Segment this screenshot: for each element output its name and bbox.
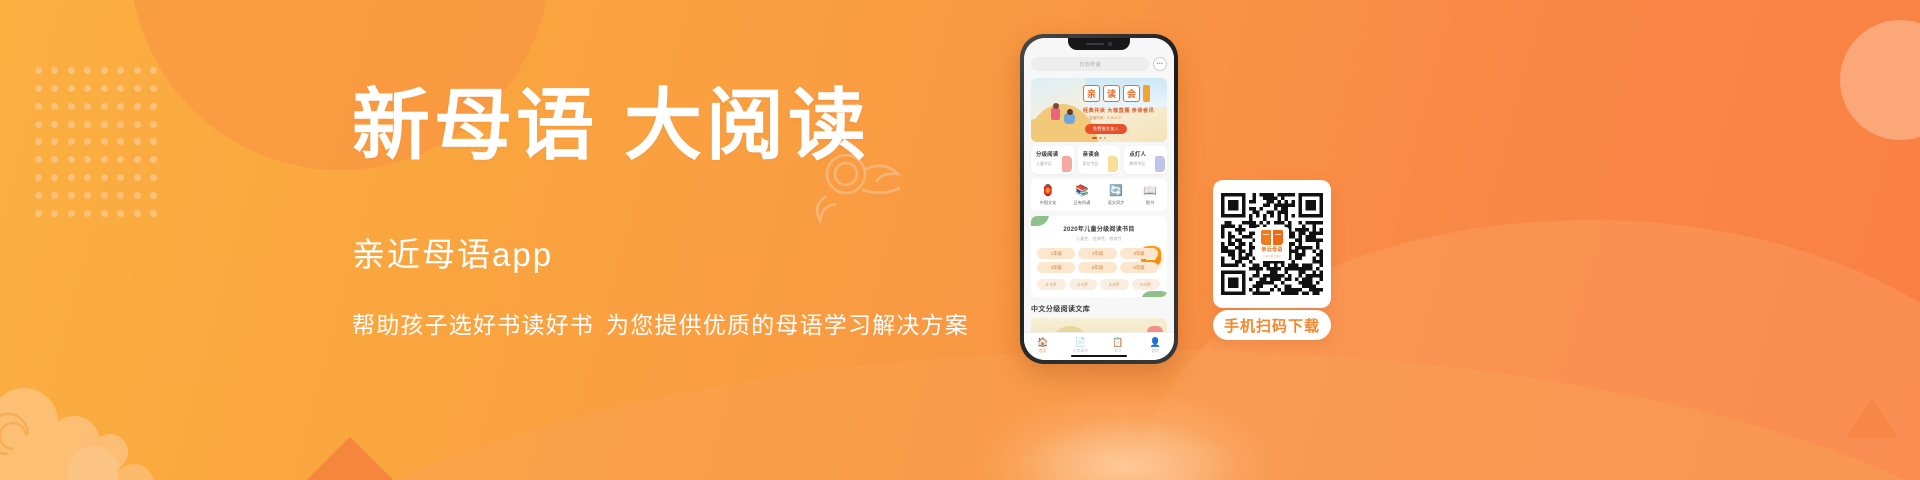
grade-chip-row: 1年级 2年级 3年级 4年级 5年级 6年级 (1037, 248, 1161, 273)
app-name-subtitle: 亲近母语app (352, 228, 1012, 276)
grid-dot (134, 210, 141, 217)
entry-card-lamplighter[interactable]: 点灯人 教师专区 (1124, 146, 1167, 174)
tab-label: 首页 (1024, 349, 1062, 354)
grid-dot (68, 174, 75, 181)
phone-mockup: 日有所诵 ••• 亲 读 会 (1020, 34, 1178, 364)
hero-child-illustration-2 (1064, 113, 1075, 124)
scan-download-button[interactable]: 手机扫码下载 (1213, 310, 1331, 340)
grid-dot (68, 103, 75, 110)
grid-dot (150, 85, 157, 92)
book-icon (1155, 156, 1165, 172)
grid-dot (134, 121, 141, 128)
decor-phone-glow (975, 390, 1275, 480)
library-section-title: 中文分级阅读文库 (1031, 304, 1167, 314)
grid-dot (150, 67, 157, 74)
sync-icon: 🔄 (1099, 185, 1133, 197)
grid-dot (150, 138, 157, 145)
qr-center-logo: 亲近母语 让孩子爱上阅读 (1255, 227, 1289, 261)
grid-dot (51, 156, 58, 163)
leaf-decor-icon (1141, 291, 1167, 297)
grid-dot (51, 85, 58, 92)
entry-card-reading-club[interactable]: 亲读会 家长专区 (1078, 146, 1121, 174)
grid-dot (51, 121, 58, 128)
copy-block: 新母语大阅读 亲近母语app 帮助孩子选好书读好书为您提供优质的母语学习解决方案 (352, 86, 1012, 340)
age-chip[interactable]: 4-5岁 (1100, 279, 1129, 290)
nav-label: 语文同步 (1099, 200, 1133, 206)
decor-diamond (305, 437, 396, 480)
nav-item-chinese-culture[interactable]: 🏮 中国文化 (1031, 185, 1065, 206)
grid-dot (117, 156, 124, 163)
hero-seal-decor (1143, 85, 1150, 102)
grid-dot (84, 85, 91, 92)
grid-dot (35, 138, 42, 145)
grade-chip[interactable]: 5年级 (1078, 262, 1116, 273)
booklist-title: 2020年儿童分级阅读书目 (1037, 224, 1161, 233)
message-icon: ••• (1157, 62, 1164, 67)
phone-notch (1068, 38, 1130, 50)
entry-cards: 分级阅读 儿童专区 亲读会 家长专区 点灯人 教师专区 (1031, 146, 1167, 174)
clipboard-icon: 📋 (1099, 337, 1137, 347)
grid-dot (68, 138, 75, 145)
grid-dot (68, 67, 75, 74)
carousel-dot[interactable] (1099, 137, 1102, 140)
grid-dot (51, 210, 58, 217)
grid-dot (117, 192, 124, 199)
grid-dot (68, 210, 75, 217)
grid-dot (35, 85, 42, 92)
tab-reading[interactable]: 📄 小步读书 (1062, 337, 1100, 354)
grid-dot (84, 67, 91, 74)
grade-chip[interactable]: 1年级 (1037, 248, 1075, 259)
grid-dot (134, 138, 141, 145)
decor-band-bottom (200, 350, 1920, 480)
document-icon: 📄 (1062, 337, 1100, 347)
grid-dot (51, 174, 58, 181)
grid-dot (35, 210, 42, 217)
search-row: 日有所诵 ••• (1024, 54, 1174, 76)
tab-label: 学习 (1099, 349, 1137, 354)
decor-phone-glow-inner (1010, 418, 1240, 480)
grid-dot (51, 192, 58, 199)
grid-dot (134, 85, 141, 92)
phone-inner-frame: 日有所诵 ••• 亲 读 会 (1024, 38, 1174, 360)
nav-item-language-sync[interactable]: 🔄 语文同步 (1099, 185, 1133, 206)
grid-dot (117, 138, 124, 145)
grid-dot (68, 156, 75, 163)
hero-title-char-3: 会 (1123, 85, 1140, 102)
grid-dot (134, 156, 141, 163)
grid-dot (117, 67, 124, 74)
grid-dot (134, 192, 141, 199)
tagline-part-1: 帮助孩子选好书读好书 (352, 312, 594, 338)
tagline-part-2: 为您提供优质的母语学习解决方案 (606, 312, 969, 338)
headline-part-2: 大阅读 (624, 80, 870, 171)
book-left-page (1261, 230, 1271, 245)
grid-dot (117, 103, 124, 110)
camera-icon (1108, 42, 1112, 46)
grid-dot (84, 138, 91, 145)
grid-dot (101, 85, 108, 92)
grid-dot (101, 67, 108, 74)
grid-dot (51, 67, 58, 74)
nav-label: 图书 (1133, 200, 1167, 206)
book-logo-icon (1261, 230, 1283, 245)
tab-label: 小步读书 (1062, 349, 1100, 354)
promo-banner: 新母语大阅读 亲近母语app 帮助孩子选好书读好书为您提供优质的母语学习解决方案… (0, 0, 1920, 480)
hero-title: 亲 读 会 (1083, 85, 1150, 102)
carousel-dot-active[interactable] (1092, 137, 1097, 140)
hero-child-illustration-1 (1051, 107, 1060, 120)
qr-code-card: 亲近母语 让孩子爱上阅读 (1213, 180, 1331, 308)
grid-dot (150, 121, 157, 128)
headline-part-1: 新母语 (352, 80, 598, 171)
grid-dot (84, 121, 91, 128)
grid-dot (68, 192, 75, 199)
cloud-motif-icon (0, 370, 162, 480)
book-icon (1108, 156, 1118, 172)
decor-dot-grid (30, 62, 162, 222)
lantern-icon: 🏮 (1031, 185, 1065, 197)
book-icon (1062, 156, 1072, 172)
home-icon: 🏠 (1024, 337, 1062, 347)
grid-dot (101, 103, 108, 110)
grid-dot (101, 156, 108, 163)
nav-item-books[interactable]: 📖 图书 (1133, 185, 1167, 206)
nav-label: 中国文化 (1031, 200, 1065, 206)
grid-dot (35, 121, 42, 128)
icon-nav-row: 🏮 中国文化 📚 日有所诵 🔄 语文同步 📖 图书 (1031, 179, 1167, 211)
message-button[interactable]: ••• (1153, 57, 1167, 71)
grid-dot (68, 85, 75, 92)
grade-chip[interactable]: 4年级 (1037, 262, 1075, 273)
grid-dot (35, 174, 42, 181)
hero-subtitle: 经典共读 大咖直播 亲读者讯 (1083, 107, 1154, 114)
tab-profile[interactable]: 👤 我的 (1137, 337, 1175, 354)
grid-dot (35, 156, 42, 163)
hero-date: 直播时间：9.16-9.27 (1089, 116, 1122, 121)
tab-home[interactable]: 🏠 首页 (1024, 337, 1062, 354)
grid-dot (134, 67, 141, 74)
grid-dot (84, 103, 91, 110)
grid-dot (35, 192, 42, 199)
grid-dot (84, 156, 91, 163)
grid-dot (84, 192, 91, 199)
entry-card-graded-reading[interactable]: 分级阅读 儿童专区 (1031, 146, 1074, 174)
home-indicator (1071, 355, 1127, 358)
grid-dot (35, 103, 42, 110)
user-icon: 👤 (1137, 337, 1175, 347)
age-chip[interactable]: 0-3岁 (1037, 279, 1066, 290)
scan-download-label: 手机扫码下载 (1224, 315, 1320, 336)
grid-dot (68, 121, 75, 128)
hero-cta-button[interactable]: 免费报名加入 (1085, 124, 1127, 134)
tagline: 帮助孩子选好书读好书为您提供优质的母语学习解决方案 (352, 306, 1012, 340)
books-icon: 📚 (1065, 185, 1099, 197)
grid-dot (84, 210, 91, 217)
grid-dot (150, 103, 157, 110)
age-chip-row: 0-3岁 3-4岁 4-5岁 5-6岁 (1037, 279, 1161, 290)
grid-dot (101, 174, 108, 181)
hero-title-char-1: 亲 (1083, 85, 1100, 102)
decor-triangle-right (1846, 398, 1898, 438)
grid-dot (101, 121, 108, 128)
phone-screen: 日有所诵 ••• 亲 读 会 (1024, 38, 1174, 360)
tab-label: 我的 (1137, 349, 1175, 354)
grid-dot (51, 103, 58, 110)
grid-dot (150, 192, 157, 199)
grid-dot (117, 121, 124, 128)
nav-item-daily-recite[interactable]: 📚 日有所诵 (1065, 185, 1099, 206)
grid-dot (117, 210, 124, 217)
grid-dot (150, 174, 157, 181)
decor-circle-top-right (1840, 20, 1920, 140)
book-right-page (1273, 230, 1283, 245)
search-placeholder: 日有所诵 (1079, 61, 1101, 68)
grid-dot (84, 174, 91, 181)
grid-dot (35, 67, 42, 74)
grid-dot (117, 85, 124, 92)
open-book-icon: 📖 (1133, 185, 1167, 197)
carousel-dot[interactable] (1104, 137, 1107, 140)
age-chip[interactable]: 5-6岁 (1132, 279, 1161, 290)
grid-dot (101, 138, 108, 145)
grid-dot (101, 210, 108, 217)
logo-brand-name: 亲近母语 (1261, 246, 1282, 253)
qr-matrix: 亲近母语 让孩子爱上阅读 (1221, 188, 1323, 300)
page-title: 新母语大阅读 (352, 86, 1012, 166)
grid-dot (51, 138, 58, 145)
search-input[interactable]: 日有所诵 (1031, 57, 1149, 71)
grade-chip[interactable]: 2年级 (1078, 248, 1116, 259)
cloud-motif-small-icon (60, 432, 180, 480)
speaker-icon (1086, 43, 1104, 46)
age-chip[interactable]: 3-4岁 (1069, 279, 1098, 290)
carousel-dots[interactable] (1092, 137, 1106, 140)
grid-dot (101, 192, 108, 199)
grid-dot (134, 103, 141, 110)
grade-chip[interactable]: 3年级 (1120, 248, 1158, 259)
tab-study[interactable]: 📋 学习 (1099, 337, 1137, 354)
grid-dot (150, 210, 157, 217)
hero-title-char-2: 读 (1103, 85, 1120, 102)
booklist-section: 2020年儿童分级阅读书目 儿童性、经典性、教育性 1年级 2年级 3年级 4年… (1031, 216, 1167, 297)
logo-tagline: 让孩子爱上阅读 (1263, 254, 1280, 258)
hero-banner[interactable]: 亲 读 会 经典共读 大咖直播 亲读者讯 直播时间：9.16-9.27 免费报名… (1031, 78, 1167, 142)
nav-label: 日有所诵 (1065, 200, 1099, 206)
booklist-subtitle: 儿童性、经典性、教育性 (1037, 236, 1161, 242)
grid-dot (150, 156, 157, 163)
grid-dot (134, 174, 141, 181)
grid-dot (117, 174, 124, 181)
grade-chip[interactable]: 6年级 (1120, 262, 1158, 273)
